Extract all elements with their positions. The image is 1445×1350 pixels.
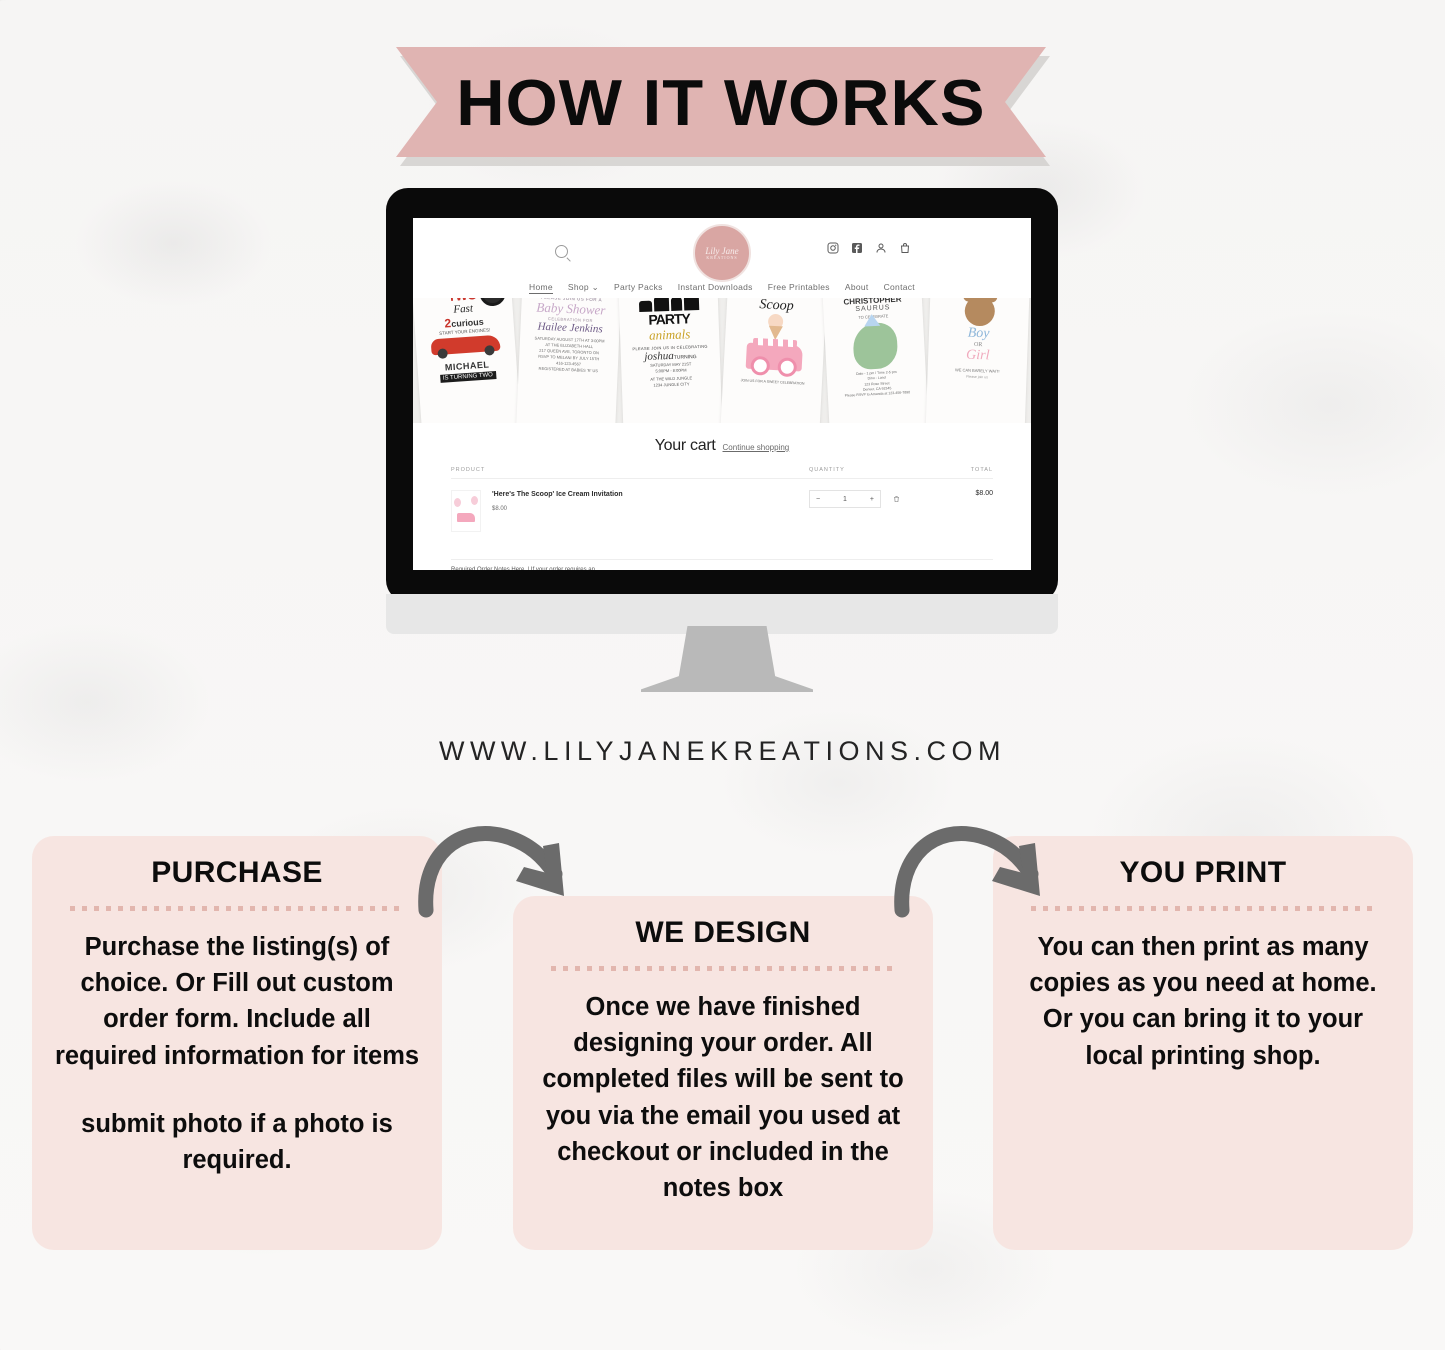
quantity-decrement[interactable]: − <box>816 496 820 503</box>
cart-item-total: $8.00 <box>929 490 993 497</box>
step-body: Purchase the listing(s) of choice. Or Fi… <box>50 929 424 1074</box>
cart-item-price: $8.00 <box>492 506 809 512</box>
hero-invitation-strip: TWO Fast 2curious START YOUR ENGINES! MI… <box>413 298 1031 423</box>
banner-ribbon: HOW IT WORKS <box>396 47 1046 157</box>
column-header-total: TOTAL <box>929 467 993 473</box>
invitation-card-two-fast: TWO Fast 2curious START YOUR ENGINES! MI… <box>413 298 522 423</box>
cart-quantity-controls: − 1 + <box>809 490 929 508</box>
search-icon[interactable] <box>555 245 568 258</box>
continue-shopping-link[interactable]: Continue shopping <box>723 443 790 452</box>
curved-arrow-design-to-print <box>888 818 1068 930</box>
instagram-icon[interactable] <box>827 242 839 254</box>
step-divider-dots <box>1031 906 1375 911</box>
monitor-screen: Lily Jane KREATIONS Home Sh <box>413 218 1031 570</box>
cart-title: Your cart <box>655 437 716 455</box>
how-it-works-banner: HOW IT WORKS <box>396 47 1046 157</box>
invitation-footer: IS TURNING TWO <box>440 371 497 383</box>
cart-item-info: 'Here's The Scoop' Ice Cream Invitation … <box>492 490 809 512</box>
banner-title: HOW IT WORKS <box>456 65 985 140</box>
cart-section: Your cart Continue shopping PRODUCT QUAN… <box>413 423 1031 559</box>
invitation-script: Scoop <box>726 298 826 317</box>
cart-item-thumbnail[interactable] <box>451 490 481 532</box>
invitation-details: SATURDAY AUGUST 17TH AT 3:00PM AT THE EL… <box>519 334 620 374</box>
invitation-card-party-animals: PARTY animals PLEASE JOIN US IN CELEBRAT… <box>619 298 724 423</box>
cart-line-item: 'Here's The Scoop' Ice Cream Invitation … <box>451 490 993 532</box>
invitation-card-boy-or-girl: Boy OR Girl WE CAN BARELY WAIT! Please j… <box>925 298 1030 423</box>
step-divider-dots <box>551 966 895 971</box>
nav-item-contact[interactable]: Contact <box>884 282 915 294</box>
invitation-turning: TURNING <box>674 354 697 361</box>
nav-item-home[interactable]: Home <box>529 282 553 294</box>
website-url: WWW.LILYJANEKREATIONS.COM <box>0 736 1445 767</box>
step-card-we-design: WE DESIGN Once we have finished designin… <box>513 896 933 1250</box>
invitation-venue: AT THE WILD JUNGLE 1234 JUNGLE CITY <box>622 374 722 389</box>
trash-icon[interactable] <box>893 495 900 503</box>
invitation-card-dinosaur: STOMP, CHOMP AND ROAR CHRISTOPHER SAURUS… <box>822 298 929 423</box>
site-header-icons <box>827 242 911 254</box>
computer-monitor: Lily Jane KREATIONS Home Sh <box>386 188 1058 602</box>
quantity-value[interactable]: 1 <box>843 496 847 503</box>
site-logo[interactable]: Lily Jane KREATIONS <box>693 224 751 282</box>
cart-divider <box>451 559 993 560</box>
cart-column-headers: PRODUCT QUANTITY TOTAL <box>451 467 993 479</box>
step-divider-dots <box>70 906 404 911</box>
race-car-graphic <box>430 334 500 355</box>
cart-footer: Required Order Notes Here. | If your ord… <box>413 559 1031 570</box>
cart-header: Your cart Continue shopping <box>451 437 993 455</box>
invitation-name: joshua <box>645 349 675 362</box>
monitor-stand <box>641 626 813 692</box>
step-body-secondary: submit photo if a photo is required. <box>50 1106 424 1178</box>
account-icon[interactable] <box>875 242 887 254</box>
nav-item-free-printables[interactable]: Free Printables <box>768 282 830 294</box>
cart-subtotal-block: Subtotal $8.00 USD Taxes and shipping ca… <box>899 566 993 570</box>
nav-item-party-packs[interactable]: Party Packs <box>614 282 663 294</box>
curved-arrow-purchase-to-design <box>412 818 592 930</box>
step-body: Once we have finished designing your ord… <box>531 989 915 1206</box>
cart-item-name: 'Here's The Scoop' Ice Cream Invitation <box>492 490 642 501</box>
site-logo-line2: KREATIONS <box>706 256 737 261</box>
nav-item-instant-downloads[interactable]: Instant Downloads <box>678 282 753 294</box>
step-body: You can then print as many copies as you… <box>1011 929 1395 1074</box>
step-title: PURCHASE <box>50 858 424 888</box>
site-navigation: Home Shop ⌄ Party Packs Instant Download… <box>413 282 1031 298</box>
invitation-script: animals <box>620 325 720 344</box>
facebook-icon[interactable] <box>851 242 863 254</box>
column-header-quantity: QUANTITY <box>809 467 929 473</box>
order-notes-label: Required Order Notes Here. | If your ord… <box>451 566 603 570</box>
site-header: Lily Jane KREATIONS <box>413 218 1031 282</box>
invitation-word: curious <box>451 316 484 328</box>
invitation-card-ice-cream: THERE'S THE Scoop JOIN US FOR A SWEET CE… <box>719 298 827 423</box>
cart-icon[interactable] <box>899 242 911 254</box>
quantity-stepper[interactable]: − 1 + <box>809 490 881 508</box>
step-card-purchase: PURCHASE Purchase the listing(s) of choi… <box>32 836 442 1250</box>
ice-cream-truck <box>745 343 802 372</box>
invitation-details: Date - 1 pm / Time 2-5 pm Dino - Land 12… <box>826 368 926 399</box>
nav-item-shop[interactable]: Shop ⌄ <box>568 282 599 294</box>
invitation-name: MICHAEL <box>417 357 517 374</box>
quantity-increment[interactable]: + <box>870 496 874 503</box>
invitation-details: JOIN US FOR A SWEET CELEBRATION <box>722 377 821 386</box>
nav-item-about[interactable]: About <box>845 282 869 294</box>
step-title: YOU PRINT <box>1011 858 1395 888</box>
column-header-product: PRODUCT <box>451 467 809 473</box>
invitation-script-pink: Girl <box>928 346 1028 365</box>
teddy-bear-graphic <box>964 298 995 326</box>
dinosaur-graphic <box>851 321 897 369</box>
invitation-card-baby-shower: PLEASE JOIN US FOR A Baby Shower CELEBRA… <box>516 298 622 423</box>
